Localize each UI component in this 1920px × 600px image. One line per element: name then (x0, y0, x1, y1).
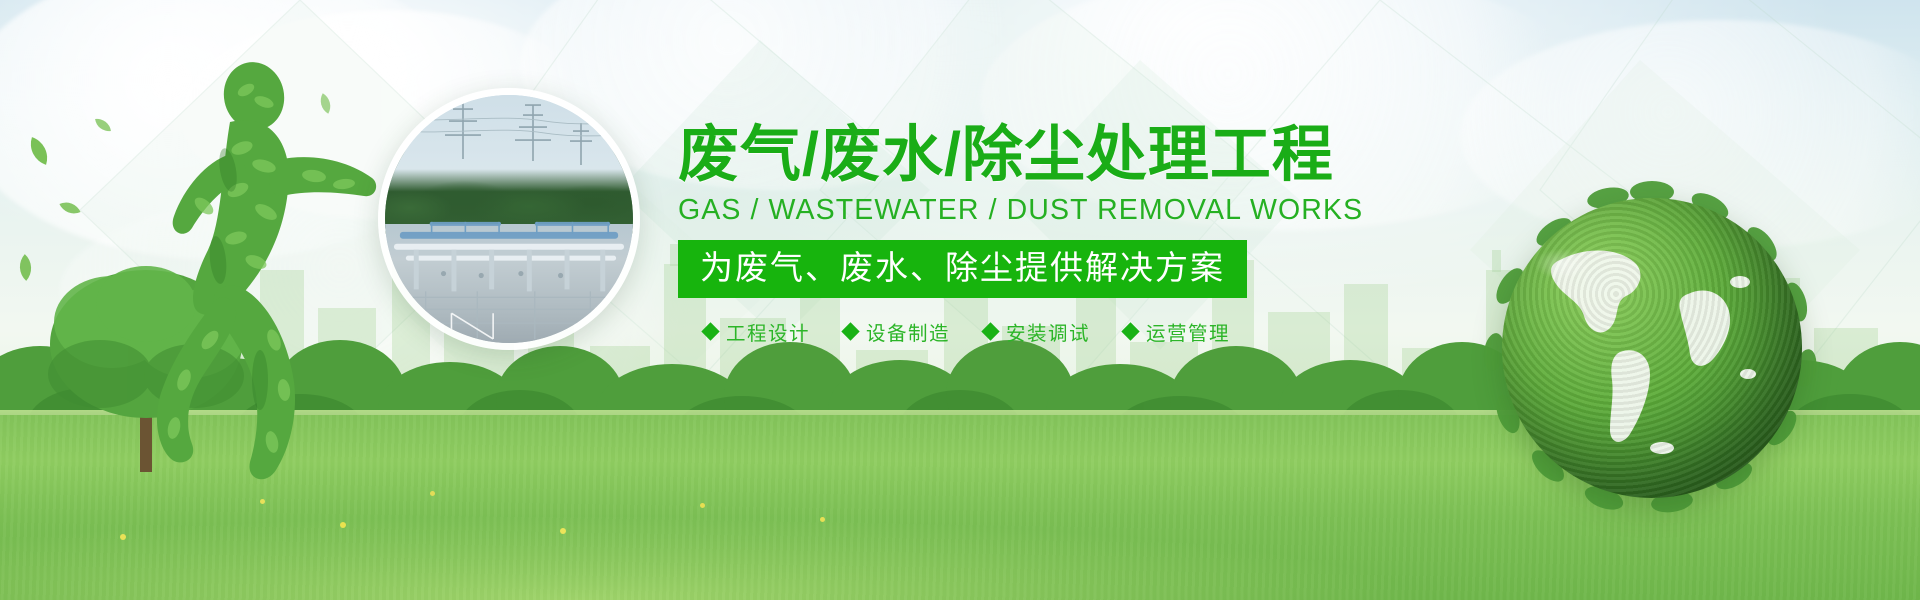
feature-item: 运营管理 (1124, 317, 1230, 346)
flower-dot (430, 491, 435, 496)
globe-continents (1502, 198, 1802, 498)
tagline-ribbon: 为废气、废水、除尘提供解决方案 (678, 240, 1247, 298)
photo-pipework (385, 214, 633, 343)
eco-engineering-banner: 废气/废水/除尘处理工程 GAS / WASTEWATER / DUST REM… (0, 0, 1920, 600)
leaf-globe-figure (1502, 198, 1802, 498)
feature-item: 工程设计 (704, 317, 810, 346)
page-title: 废气/废水/除尘处理工程 (678, 122, 1498, 187)
feature-label: 设备制造 (866, 317, 950, 346)
banner-text-block: 废气/废水/除尘处理工程 GAS / WASTEWATER / DUST REM… (678, 122, 1498, 346)
diamond-bullet-icon (701, 322, 719, 340)
diamond-bullet-icon (981, 322, 999, 340)
globe-sphere (1502, 198, 1802, 498)
diamond-bullet-icon (841, 322, 859, 340)
feature-label: 工程设计 (726, 317, 810, 346)
flower-dot (700, 503, 705, 508)
photo-inset-ring (378, 88, 640, 350)
flower-dot (820, 517, 825, 522)
feature-label: 安装调试 (1006, 317, 1090, 346)
page-subtitle: GAS / WASTEWATER / DUST REMOVAL WORKS (678, 194, 1498, 227)
flower-dot (560, 528, 566, 534)
feature-list: 工程设计 设备制造 安装调试 运营管理 (678, 317, 1498, 346)
feature-item: 安装调试 (984, 317, 1090, 346)
flower-dot (340, 522, 346, 528)
feature-item: 设备制造 (844, 317, 950, 346)
flower-dot (120, 534, 126, 540)
diamond-bullet-icon (1121, 322, 1139, 340)
wastewater-plant-photo (385, 95, 633, 343)
leaf-man-figure (118, 50, 408, 520)
feature-label: 运营管理 (1146, 317, 1230, 346)
